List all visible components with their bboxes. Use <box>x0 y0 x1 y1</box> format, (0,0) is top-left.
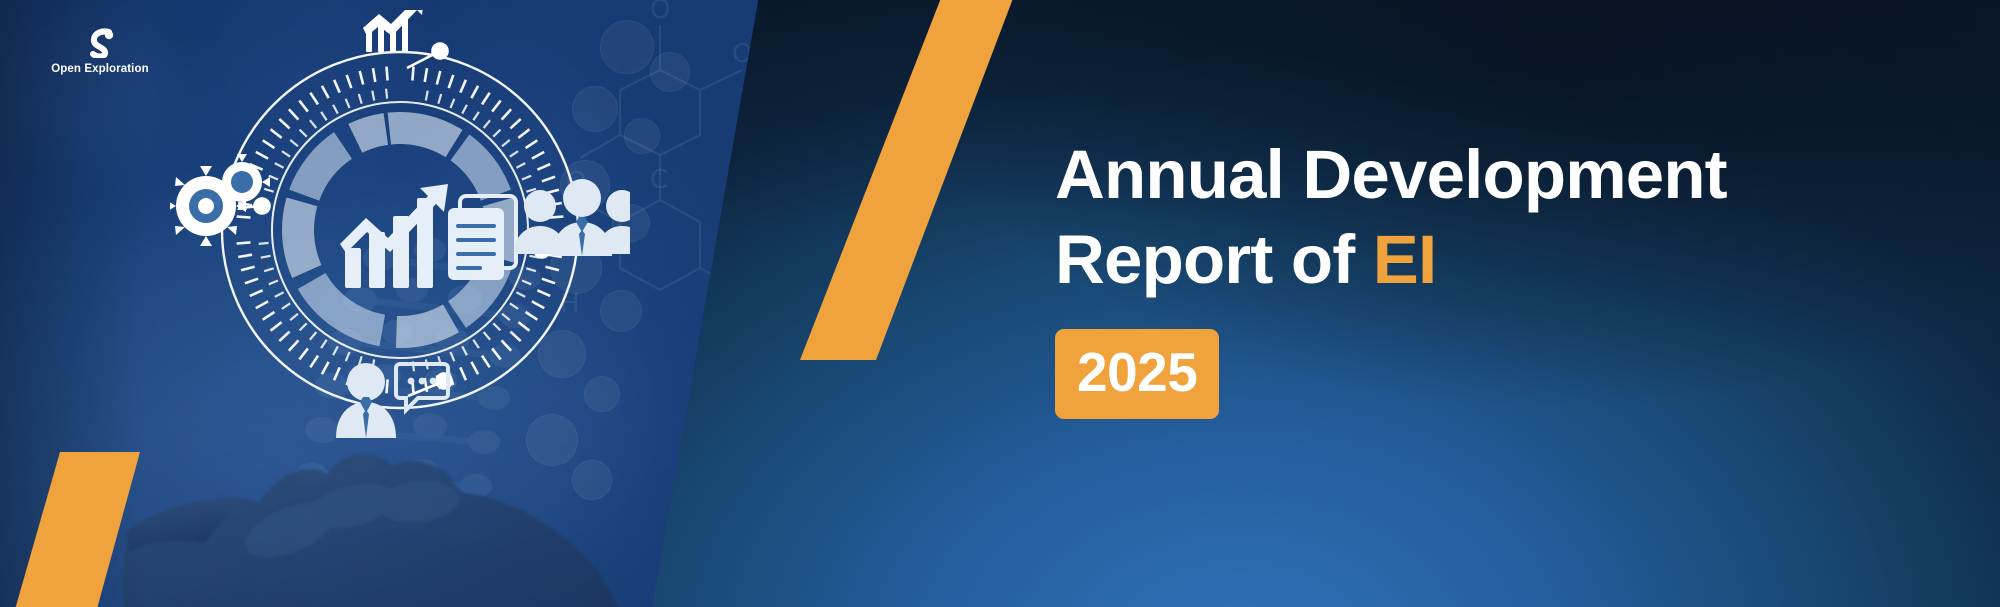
brand-logo[interactable]: Open Exploration <box>35 28 165 75</box>
bar-chart-arrow-icon <box>363 10 424 52</box>
year-badge: 2025 <box>1055 329 1219 419</box>
annual-report-banner: O C O OH H C R HN <box>0 0 2000 607</box>
title-line-2: Report of EI <box>1055 225 1727 294</box>
open-exploration-logo-icon <box>79 28 121 58</box>
data-analytics-hud-illustration <box>170 10 630 440</box>
hero-text-block: Annual Development Report of EI 2025 <box>1055 140 1727 419</box>
brand-name: Open Exploration <box>35 63 165 75</box>
title-accent-ei: EI <box>1373 221 1437 298</box>
gears-icon <box>170 154 270 246</box>
title-line-1: Annual Development <box>1055 136 1727 213</box>
page-title: Annual Development Report of EI <box>1055 140 1727 294</box>
title-line-2-prefix: Report of <box>1055 221 1373 298</box>
